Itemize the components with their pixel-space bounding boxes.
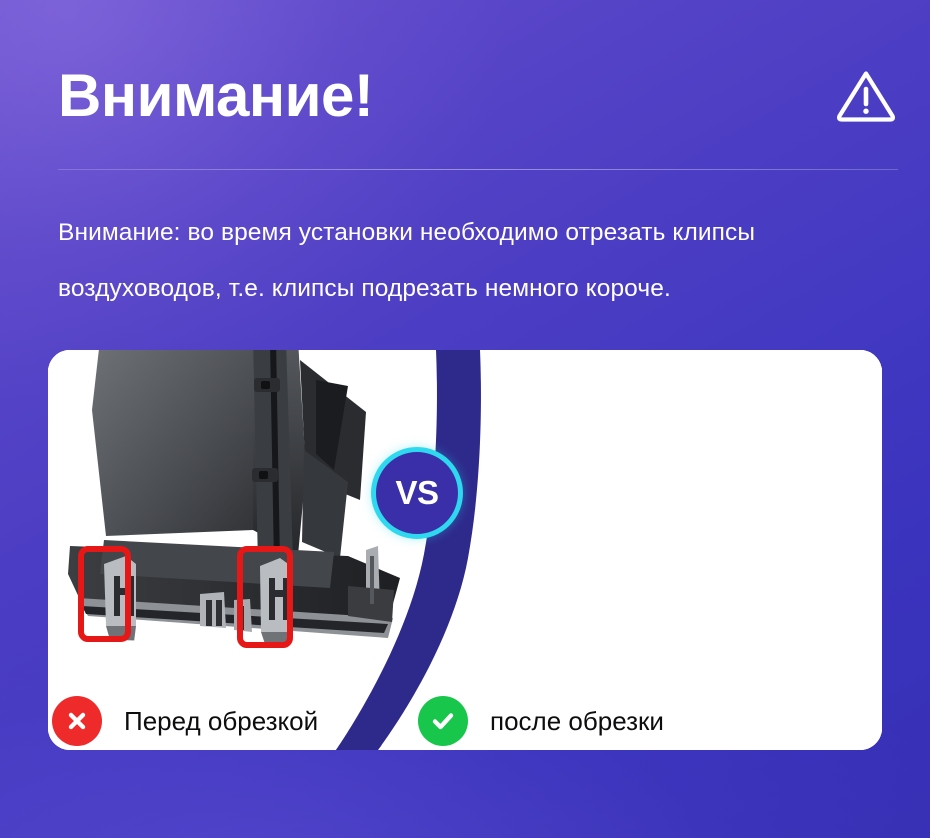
highlight-box-after-2 xyxy=(651,594,707,692)
before-pane xyxy=(48,350,478,750)
before-label: Перед обрезкой xyxy=(124,706,318,737)
highlight-box-after-1 xyxy=(489,586,541,682)
intro-line-1: Внимание: во время установки необходимо … xyxy=(58,205,888,261)
poster-header: Внимание! xyxy=(58,52,898,140)
highlight-box-before-2 xyxy=(237,546,293,648)
vs-badge: VS xyxy=(371,447,463,539)
warning-triangle-icon xyxy=(834,64,898,128)
after-label: после обрезки xyxy=(490,706,664,737)
after-pane xyxy=(452,350,882,750)
header-divider xyxy=(58,169,898,170)
before-label-row: Перед обрезкой xyxy=(52,696,318,746)
highlight-box-before-1 xyxy=(78,546,131,642)
page-title: Внимание! xyxy=(58,66,373,126)
intro-paragraph: Внимание: во время установки необходимо … xyxy=(58,205,888,317)
check-icon xyxy=(418,696,468,746)
intro-line-2: воздуховодов, т.е. клипсы подрезать немн… xyxy=(58,261,888,317)
comparison-card xyxy=(48,350,882,750)
cross-icon xyxy=(52,696,102,746)
after-label-row: после обрезки xyxy=(418,696,664,746)
attention-poster: Внимание! Внимание: во время установки н… xyxy=(0,0,930,838)
